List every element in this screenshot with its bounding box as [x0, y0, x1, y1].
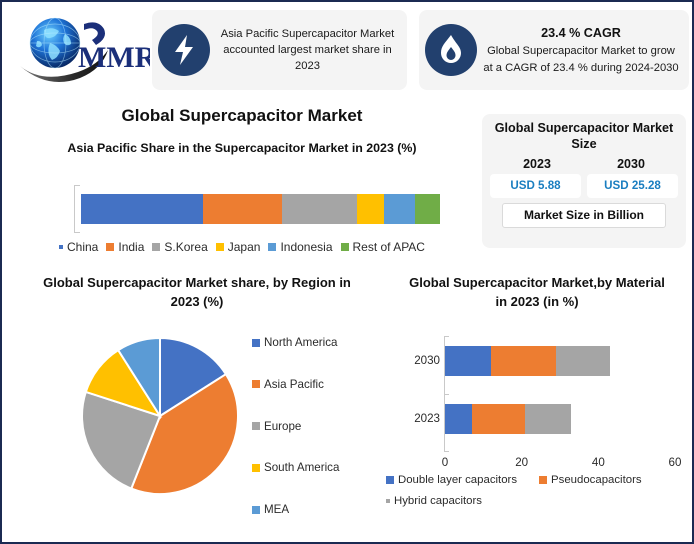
legend-swatch-icon — [268, 243, 276, 251]
legend-swatch-icon — [252, 506, 260, 514]
material-chart-legend: Double layer capacitorsPseudocapacitorsH… — [386, 474, 690, 516]
material-row-label-2023: 2023 — [402, 412, 440, 425]
region-chart-legend: North AmericaAsia PacificEuropeSouth Ame… — [252, 336, 382, 516]
legend-swatch-icon — [539, 476, 547, 484]
apac-legend-item: Indonesia — [268, 240, 332, 254]
flame-icon — [425, 24, 477, 76]
material-legend-label: Pseudocapacitors — [551, 474, 642, 486]
region-legend-label: Europe — [264, 420, 301, 433]
market-size-year-2023: 2023 — [523, 157, 551, 171]
material-segment-pseudocapacitors — [491, 346, 556, 376]
material-bar-row-2023 — [445, 404, 572, 434]
material-segment-pseudocapacitors — [472, 404, 526, 434]
region-legend-item: Asia Pacific — [252, 378, 382, 391]
legend-swatch-icon — [252, 464, 260, 472]
lightning-bolt-icon — [158, 24, 210, 76]
region-legend-label: Asia Pacific — [264, 378, 324, 391]
market-size-title: Global Supercapacitor Market Size — [490, 121, 678, 152]
apac-legend-label: S.Korea — [164, 240, 207, 254]
mmr-logo: MMR — [12, 10, 150, 90]
market-size-unit: Market Size in Billion — [502, 203, 666, 228]
apac-segment-s-korea — [282, 194, 357, 224]
region-legend-item: North America — [252, 336, 382, 349]
apac-share-chart: Asia Pacific Share in the Supercapacitor… — [2, 140, 482, 260]
material-legend-item: Hybrid capacitors — [386, 495, 482, 507]
apac-legend-label: Japan — [228, 240, 261, 254]
legend-swatch-icon — [152, 243, 160, 251]
apac-stacked-bar — [81, 194, 440, 224]
header-badge-cagr: 23.4 % CAGR Global Supercapacitor Market… — [419, 10, 689, 90]
market-size-values: USD 5.88 USD 25.28 — [490, 174, 678, 198]
apac-legend-label: Rest of APAC — [353, 240, 425, 254]
apac-legend-item: India — [106, 240, 144, 254]
legend-swatch-icon — [386, 499, 390, 503]
apac-legend-item: Rest of APAC — [341, 240, 425, 254]
material-legend-item: Pseudocapacitors — [539, 474, 642, 486]
apac-segment-indonesia — [384, 194, 415, 224]
apac-segment-rest-of-apac — [415, 194, 440, 224]
material-chart-ytick — [444, 394, 449, 395]
apac-legend-item: Japan — [216, 240, 261, 254]
apac-legend-label: China — [67, 240, 98, 254]
material-segment-double-layer-capacitors — [445, 346, 491, 376]
apac-chart-legend: ChinaIndiaS.KoreaJapanIndonesiaRest of A… — [2, 240, 482, 254]
apac-legend-label: Indonesia — [280, 240, 332, 254]
market-size-card: Global Supercapacitor Market Size 2023 2… — [482, 114, 686, 248]
region-share-pie — [80, 336, 240, 496]
apac-segment-china — [81, 194, 203, 224]
material-legend-label: Hybrid capacitors — [394, 495, 482, 507]
region-legend-item: MEA — [252, 503, 382, 516]
legend-swatch-icon — [252, 422, 260, 430]
material-xtick-0: 0 — [442, 456, 448, 469]
header: MMR Asia Pacific Supercapacitor Market a… — [2, 2, 694, 98]
material-chart-xticklabels: 0204060 — [445, 456, 675, 474]
market-size-value-2023: USD 5.88 — [490, 174, 581, 198]
region-legend-item: South America — [252, 461, 382, 474]
material-legend-row: Hybrid capacitors — [386, 495, 690, 507]
mmr-logo-text: MMR — [78, 41, 150, 74]
material-chart-title: Global Supercapacitor Market,by Material… — [407, 274, 667, 312]
market-size-value-2030: USD 25.28 — [587, 174, 678, 198]
header-badge-cagr-body: Global Supercapacitor Market to grow at … — [483, 45, 678, 73]
legend-swatch-icon — [341, 243, 349, 251]
material-legend-item: Double layer capacitors — [386, 474, 517, 486]
legend-swatch-icon — [216, 243, 224, 251]
material-segment-hybrid-capacitors — [556, 346, 610, 376]
material-xtick-60: 60 — [669, 456, 682, 469]
material-bar-row-2030 — [445, 346, 610, 376]
legend-swatch-icon — [59, 245, 63, 249]
apac-legend-item: S.Korea — [152, 240, 207, 254]
material-share-chart: Global Supercapacitor Market,by Material… — [384, 274, 690, 542]
region-legend-item: Europe — [252, 420, 382, 433]
legend-swatch-icon — [252, 339, 260, 347]
region-legend-label: South America — [264, 461, 339, 474]
page-title: Global Supercapacitor Market — [2, 106, 482, 126]
apac-segment-japan — [357, 194, 384, 224]
header-badge-apac: Asia Pacific Supercapacitor Market accou… — [152, 10, 407, 90]
header-badge-cagr-text: 23.4 % CAGR Global Supercapacitor Market… — [483, 24, 679, 76]
material-xtick-40: 40 — [592, 456, 605, 469]
region-chart-title: Global Supercapacitor Market share, by R… — [27, 274, 367, 312]
material-segment-double-layer-capacitors — [445, 404, 472, 434]
apac-chart-title: Asia Pacific Share in the Supercapacitor… — [32, 140, 452, 157]
material-xtick-20: 20 — [515, 456, 528, 469]
legend-swatch-icon — [386, 476, 394, 484]
region-legend-label: North America — [264, 336, 337, 349]
header-badge-cagr-heading: 23.4 % CAGR — [483, 24, 679, 42]
material-row-label-2030: 2030 — [402, 354, 440, 367]
infographic-root: MMR Asia Pacific Supercapacitor Market a… — [0, 0, 694, 544]
apac-chart-axis — [74, 185, 80, 233]
region-legend-label: MEA — [264, 503, 289, 516]
legend-swatch-icon — [106, 243, 114, 251]
material-chart-plot: 0204060 20302023 — [402, 336, 682, 466]
globe-swoosh-icon: MMR — [12, 10, 150, 90]
material-legend-row: Double layer capacitorsPseudocapacitors — [386, 474, 690, 486]
apac-chart-plot: 2023 — [74, 185, 442, 233]
material-legend-label: Double layer capacitors — [398, 474, 517, 486]
legend-swatch-icon — [252, 380, 260, 388]
region-share-chart: Global Supercapacitor Market share, by R… — [12, 274, 382, 542]
market-size-year-2030: 2030 — [617, 157, 645, 171]
material-segment-hybrid-capacitors — [525, 404, 571, 434]
apac-legend-label: India — [118, 240, 144, 254]
apac-segment-india — [203, 194, 282, 224]
header-badge-apac-text: Asia Pacific Supercapacitor Market accou… — [216, 26, 399, 75]
market-size-years: 2023 2030 — [490, 157, 678, 171]
apac-legend-item: China — [59, 240, 98, 254]
